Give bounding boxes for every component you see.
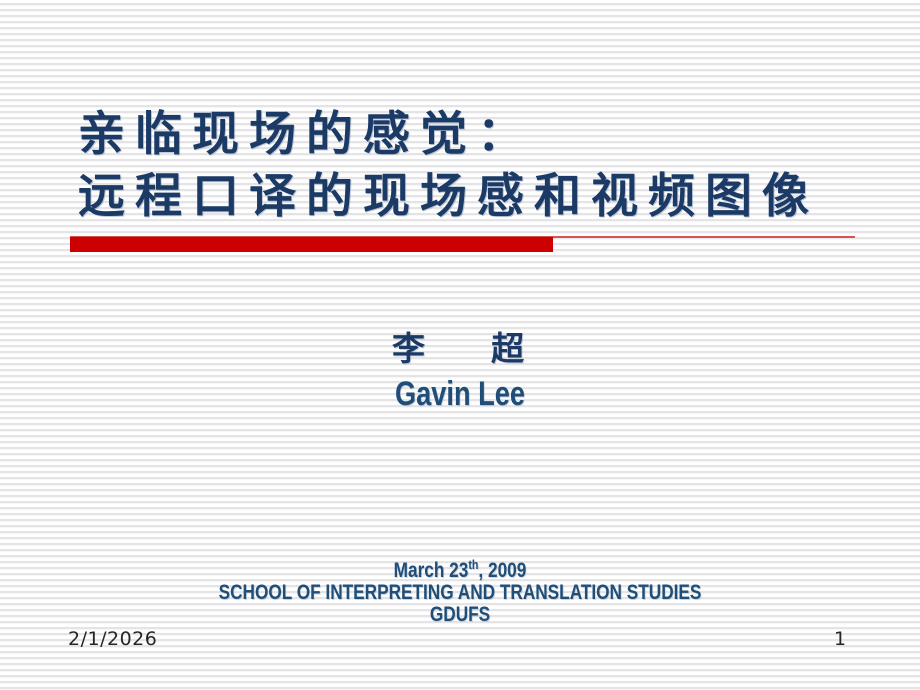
title-line-2: 远程口译的现场感和视频图像 — [78, 166, 858, 228]
presentation-date: March 23th, 2009 — [83, 560, 837, 582]
footer-date: 2/1/2026 — [68, 628, 157, 650]
title-line-1: 亲临现场的感觉： — [78, 104, 858, 166]
school-name: SCHOOL OF INTERPRETING AND TRANSLATION S… — [83, 582, 837, 604]
divider-thick-bar — [70, 237, 553, 252]
credits-block: March 23th, 2009 SCHOOL OF INTERPRETING … — [0, 560, 920, 626]
author-name-chinese: 李 超 — [0, 326, 920, 372]
date-ordinal-superscript: th — [468, 557, 478, 572]
page-title: 亲临现场的感觉： 远程口译的现场感和视频图像 — [78, 104, 858, 228]
date-suffix: , 2009 — [478, 559, 526, 582]
title-divider — [0, 236, 920, 254]
author-name-english: Gavin Lee — [92, 372, 828, 416]
organization-name: GDUFS — [83, 604, 837, 626]
slide-canvas: 亲临现场的感觉： 远程口译的现场感和视频图像 李 超 Gavin Lee Mar… — [0, 0, 920, 690]
date-prefix: March 23 — [394, 559, 469, 582]
footer-page-number: 1 — [820, 628, 860, 650]
author-block: 李 超 Gavin Lee — [0, 326, 920, 416]
